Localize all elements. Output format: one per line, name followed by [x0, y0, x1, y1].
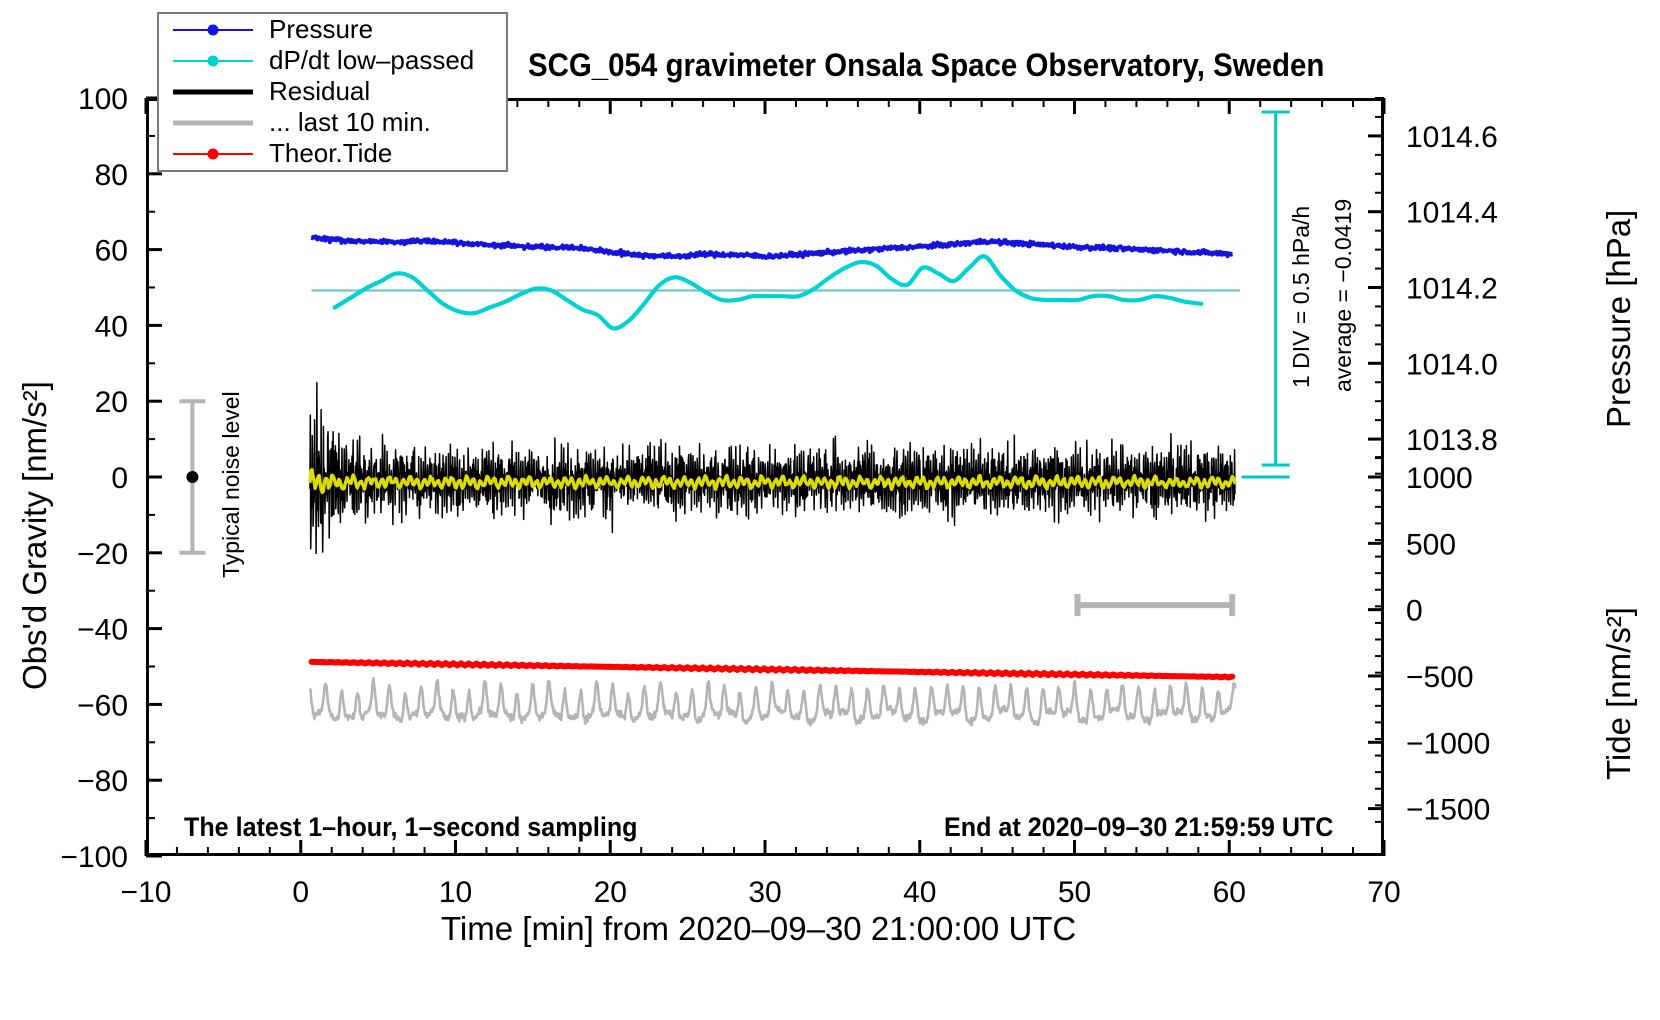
legend-swatch: [167, 139, 259, 169]
legend-marker-icon: [208, 148, 219, 159]
x-tick-label: 50: [1058, 876, 1091, 909]
y-tick-label-pressure: 1013.8: [1406, 424, 1498, 457]
typical-noise-level-marker: [179, 401, 205, 553]
x-axis-title: Time [min] from 2020–09–30 21:00:00 UTC: [441, 910, 1076, 948]
y-tick-label-left: −80: [77, 765, 128, 798]
y-tick-label-pressure: 1014.0: [1406, 348, 1498, 381]
legend-marker-icon: [208, 24, 219, 35]
legend-item-1[interactable]: dP/dt low–passed: [159, 45, 506, 76]
legend-item-label: Theor.Tide: [269, 138, 392, 169]
footer-left-text: The latest 1–hour, 1–second sampling: [184, 812, 638, 843]
y-tick-label-pressure: 1014.6: [1406, 121, 1498, 154]
legend-item-label: dP/dt low–passed: [269, 45, 474, 76]
x-tick-label: −10: [121, 876, 172, 909]
y-tick-label-left: 80: [95, 159, 128, 192]
div-scale-marker: [1242, 112, 1290, 477]
y-tick-label-left: −100: [60, 841, 128, 874]
y-tick-label-tide: −500: [1406, 661, 1474, 694]
y-axis-title-pressure: Pressure [hPa]: [1600, 210, 1638, 428]
x-tick-label: 10: [439, 876, 472, 909]
legend-swatch: [167, 46, 259, 76]
y-tick-label-left: 0: [111, 462, 128, 495]
y-tick-label-pressure: 1014.4: [1406, 197, 1498, 230]
legend-item-3[interactable]: ... last 10 min.: [159, 107, 506, 138]
legend-marker-icon: [208, 55, 219, 66]
legend-item-2[interactable]: Residual: [159, 76, 506, 107]
y-tick-label-tide: 0: [1406, 595, 1423, 628]
legend-item-label: ... last 10 min.: [269, 107, 431, 138]
legend: PressuredP/dt low–passedResidual... last…: [157, 12, 508, 172]
x-tick-label: 70: [1367, 876, 1400, 909]
y-tick-label-left: 40: [95, 310, 128, 343]
y-tick-label-left: −40: [77, 614, 128, 647]
chart-root: −10010203040506070100806040200−20−40−60−…: [0, 0, 1660, 1020]
legend-line-icon: [173, 89, 253, 94]
div-scale-label: 1 DIV = 0.5 hPa/h: [1288, 206, 1315, 388]
average-label: average = −0.0419: [1330, 199, 1357, 392]
legend-line-icon: [173, 120, 253, 125]
noise-level-label: Typical noise level: [218, 391, 245, 578]
x-tick-label: 40: [903, 876, 936, 909]
y-tick-label-left: 60: [95, 235, 128, 268]
legend-swatch: [167, 108, 259, 138]
y-tick-label-tide: −1000: [1406, 727, 1490, 760]
y-tick-label-tide: 1000: [1406, 462, 1473, 495]
y-tick-label-pressure: 1014.2: [1406, 273, 1498, 306]
legend-item-label: Residual: [269, 76, 370, 107]
y-tick-label-tide: −1500: [1406, 794, 1490, 827]
x-tick-label: 30: [748, 876, 781, 909]
y-tick-label-left: −60: [77, 689, 128, 722]
legend-item-label: Pressure: [269, 14, 373, 45]
x-tick-label: 20: [594, 876, 627, 909]
y-tick-label-left: 20: [95, 386, 128, 419]
y-tick-label-left: −20: [77, 538, 128, 571]
page-title: SCG_054 gravimeter Onsala Space Observat…: [528, 47, 1324, 84]
legend-item-0[interactable]: Pressure: [159, 14, 506, 45]
y-axis-title-left: Obs'd Gravity [nm/s²]: [16, 381, 54, 690]
footer-right-text: End at 2020–09–30 21:59:59 UTC: [944, 812, 1333, 843]
y-tick-label-tide: 500: [1406, 528, 1456, 561]
y-axis-title-tide: Tide [nm/s²]: [1600, 607, 1638, 780]
x-tick-label: 60: [1213, 876, 1246, 909]
legend-swatch: [167, 77, 259, 107]
legend-swatch: [167, 15, 259, 45]
legend-item-4[interactable]: Theor.Tide: [159, 138, 506, 169]
x-tick-label: 0: [292, 876, 309, 909]
y-tick-label-left: 100: [78, 83, 128, 116]
